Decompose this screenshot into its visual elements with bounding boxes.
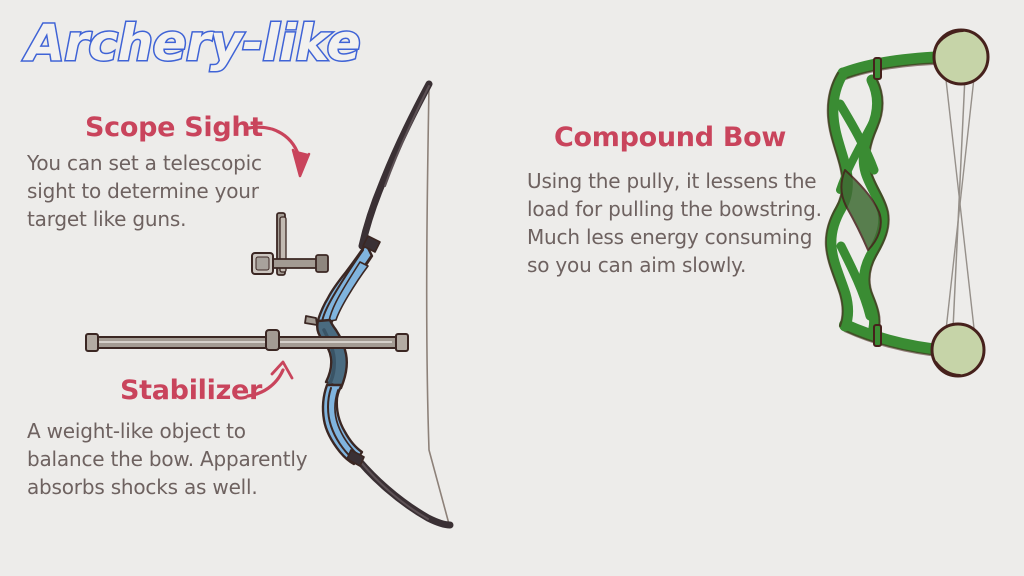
recurve-arrow-rest	[305, 316, 317, 325]
callout-heading-scope-sight: Scope Sight	[85, 112, 263, 143]
stabilizer-rod-end-cap-left	[86, 334, 98, 351]
callout-body-scope-sight: You can set a telescopic sight to determ…	[27, 149, 262, 233]
slide-canvas: Archery-like Scope Sight You can set a t…	[0, 0, 1024, 576]
recurve-bowstring	[427, 85, 449, 524]
recurve-lower-limb	[352, 452, 450, 525]
compound-lower-limb-bolt	[874, 325, 881, 346]
stabilizer-rod	[86, 330, 408, 351]
stabilizer-rod-clamp	[266, 330, 279, 350]
compound-bowstring-main	[952, 55, 966, 350]
compound-upper-cam	[934, 30, 988, 84]
page-title: Archery-like	[26, 14, 360, 72]
scope-sight-lens	[256, 257, 269, 270]
stabilizer-rod-end-cap-right	[396, 334, 408, 351]
callout-heading-compound-bow: Compound Bow	[554, 122, 786, 153]
compound-bow-drawing	[826, 30, 988, 376]
compound-lower-cam	[932, 324, 984, 376]
recurve-upper-limb-highlight	[385, 86, 429, 186]
callout-body-compound-bow: Using the pully, it lessens the load for…	[527, 167, 822, 279]
callout-heading-stabilizer: Stabilizer	[120, 375, 262, 406]
callout-body-stabilizer: A weight-like object to balance the bow.…	[27, 417, 307, 501]
scope-sight-mount-block	[316, 255, 328, 272]
compound-upper-limb-bolt	[874, 58, 881, 79]
scope-sight-assembly	[252, 213, 328, 275]
